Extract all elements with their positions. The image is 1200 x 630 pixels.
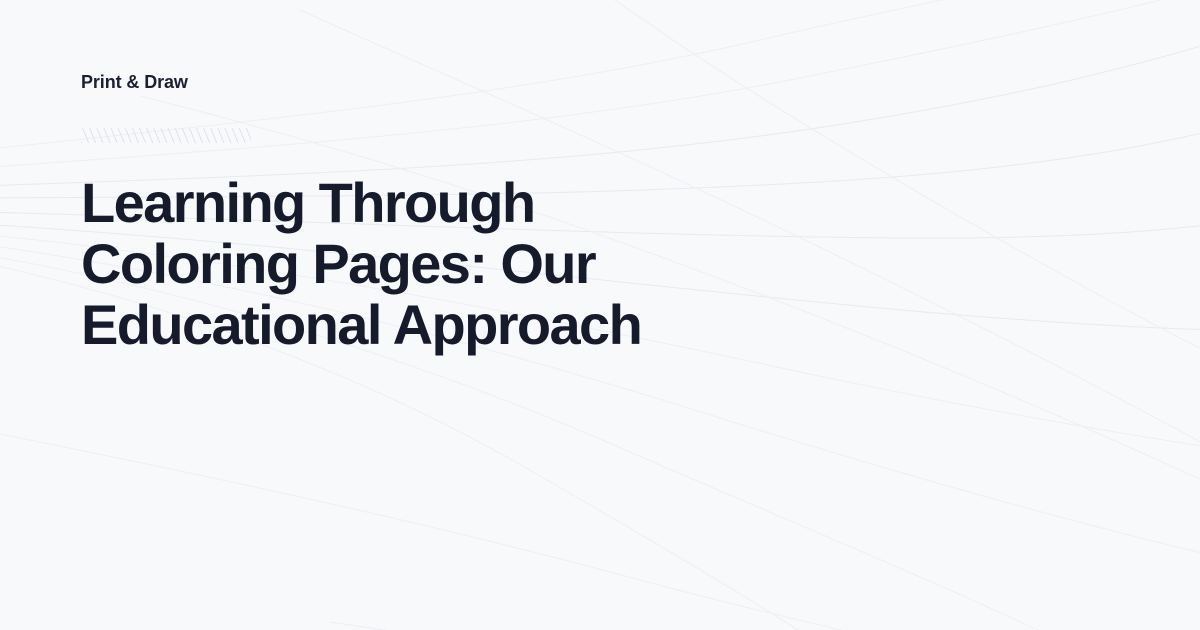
page-title-line-2: Coloring Pages: Our (81, 233, 781, 294)
social-card-canvas: Print & Draw Learning Through Coloring P… (0, 0, 1200, 630)
brand-label: Print & Draw (81, 70, 188, 94)
page-title-line-3: Educational Approach (81, 294, 781, 355)
hatch-divider (81, 128, 251, 143)
page-title-line-1: Learning Through (81, 172, 781, 233)
page-title: Learning Through Coloring Pages: Our Edu… (81, 172, 781, 355)
hero-content: Print & Draw Learning Through Coloring P… (81, 0, 1121, 630)
